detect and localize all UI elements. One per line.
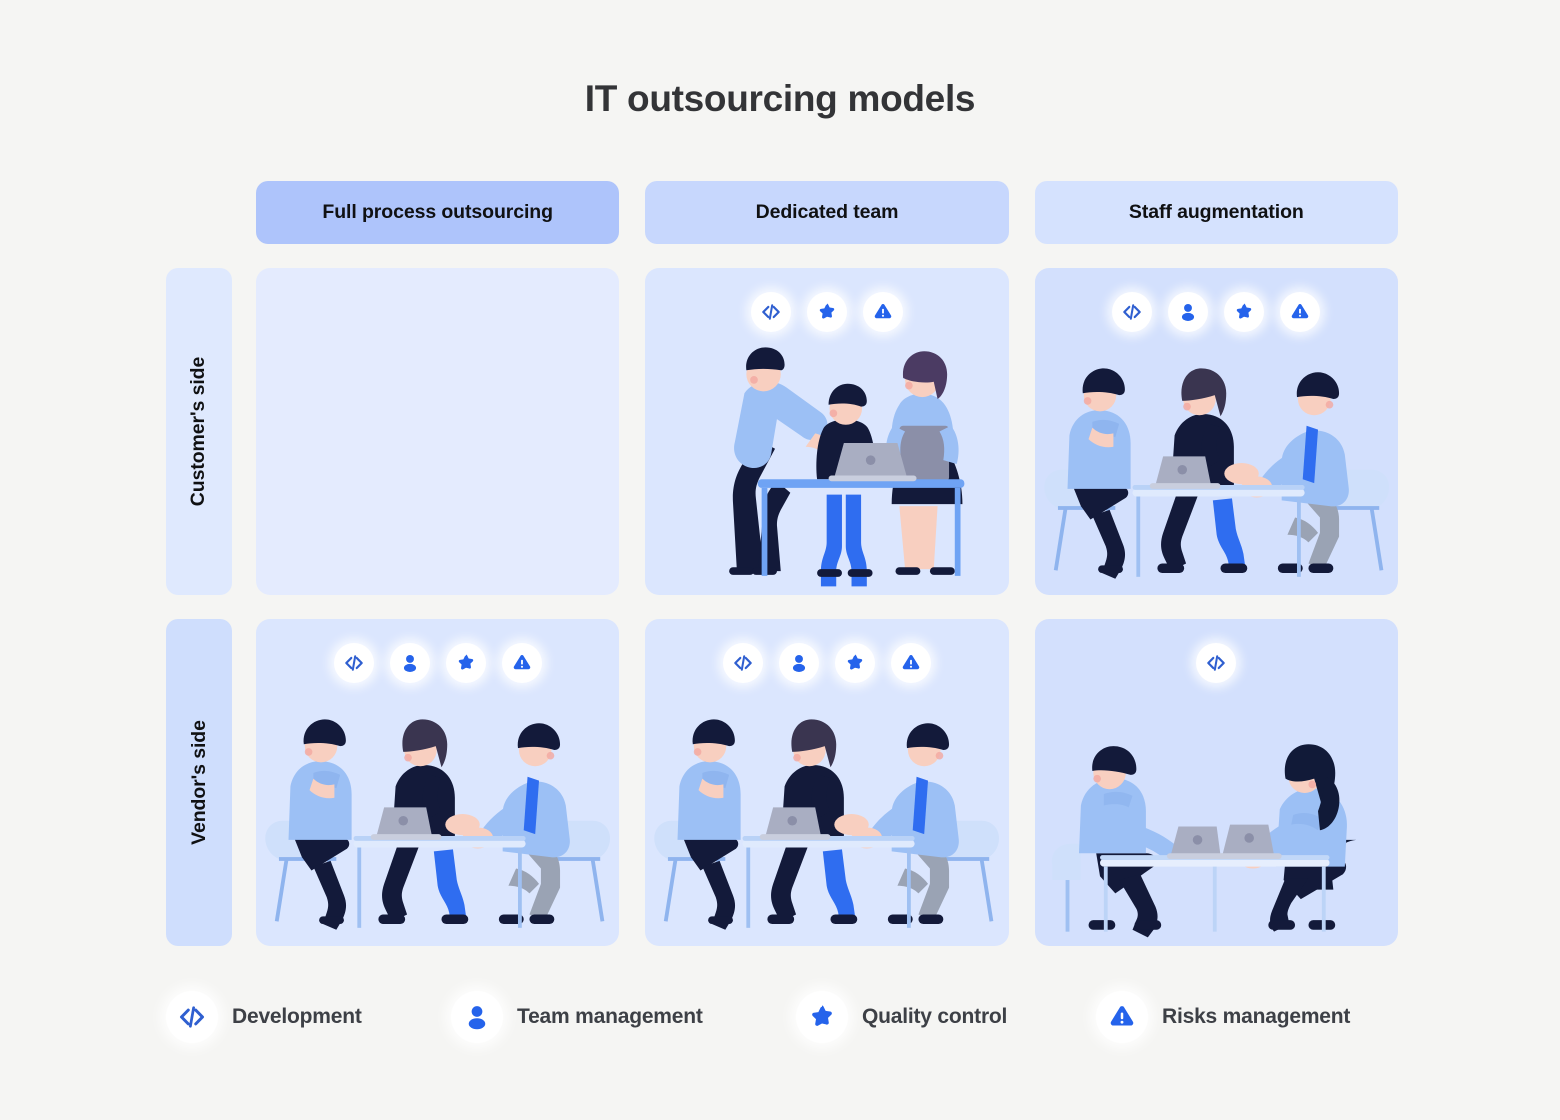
person-left <box>289 719 352 929</box>
cell-vendors-side-staff-augmentation[interactable] <box>1035 619 1398 946</box>
person-icon[interactable] <box>1168 292 1208 332</box>
legend-item-risks-management[interactable]: Risks management <box>1096 991 1416 1043</box>
cell-icon-strip <box>1035 643 1398 683</box>
code-icon <box>166 991 218 1043</box>
person-left <box>1067 368 1130 578</box>
row-label-text: Vendor's side <box>188 720 211 845</box>
star-icon[interactable] <box>1224 292 1264 332</box>
cell-icon-strip <box>645 643 1008 683</box>
warning-icon[interactable] <box>1280 292 1320 332</box>
star-icon[interactable] <box>835 643 875 683</box>
code-icon[interactable] <box>751 292 791 332</box>
column-header-row: Full process outsourcing Dedicated team … <box>256 181 1398 244</box>
infographic-root: IT outsourcing models Full process outso… <box>0 0 1560 1120</box>
code-icon[interactable] <box>723 643 763 683</box>
row-label-text: Customer's side <box>188 357 211 506</box>
cell-customers-side-dedicated-team[interactable] <box>645 268 1008 595</box>
column-header-label: Staff augmentation <box>1129 201 1304 224</box>
column-header-full-process-outsourcing[interactable]: Full process outsourcing <box>256 181 619 244</box>
cell-icon-strip <box>1035 292 1398 332</box>
person-icon[interactable] <box>390 643 430 683</box>
code-icon[interactable] <box>1196 643 1236 683</box>
code-icon[interactable] <box>334 643 374 683</box>
legend-item-team-management[interactable]: Team management <box>451 991 796 1043</box>
page-title: IT outsourcing models <box>0 78 1560 120</box>
column-header-label: Full process outsourcing <box>322 201 553 224</box>
legend-label: Team management <box>517 1005 703 1029</box>
cell-vendors-side-dedicated-team[interactable] <box>645 619 1008 946</box>
legend-label: Development <box>232 1005 362 1029</box>
cell-icon-strip <box>256 643 619 683</box>
code-icon[interactable] <box>1112 292 1152 332</box>
warning-icon <box>1096 991 1148 1043</box>
cell-icon-strip <box>645 292 1008 332</box>
column-header-staff-augmentation[interactable]: Staff augmentation <box>1035 181 1398 244</box>
column-header-label: Dedicated team <box>756 201 899 224</box>
warning-icon[interactable] <box>891 643 931 683</box>
star-icon[interactable] <box>807 292 847 332</box>
warning-icon[interactable] <box>502 643 542 683</box>
legend-item-quality-control[interactable]: Quality control <box>796 991 1096 1043</box>
person-icon <box>451 991 503 1043</box>
person-icon[interactable] <box>779 643 819 683</box>
column-header-dedicated-team[interactable]: Dedicated team <box>645 181 1008 244</box>
cell-customers-side-full-process-outsourcing[interactable] <box>256 268 619 595</box>
legend-label: Quality control <box>862 1005 1007 1029</box>
legend: Development Team management Quality cont… <box>166 991 1416 1043</box>
models-matrix: Full process outsourcing Dedicated team … <box>166 181 1398 946</box>
row-label-column: Customer's side Vendor's side <box>166 268 232 946</box>
person-left <box>678 719 741 929</box>
star-icon[interactable] <box>446 643 486 683</box>
legend-label: Risks management <box>1162 1005 1350 1029</box>
laptop-left <box>1167 826 1228 859</box>
row-label-vendors-side[interactable]: Vendor's side <box>166 619 232 946</box>
row-label-customers-side[interactable]: Customer's side <box>166 268 232 595</box>
legend-item-development[interactable]: Development <box>166 991 451 1043</box>
warning-icon[interactable] <box>863 292 903 332</box>
cell-vendors-side-full-process-outsourcing[interactable] <box>256 619 619 946</box>
star-icon <box>796 991 848 1043</box>
matrix-cells <box>256 268 1398 946</box>
cell-customers-side-staff-augmentation[interactable] <box>1035 268 1398 595</box>
